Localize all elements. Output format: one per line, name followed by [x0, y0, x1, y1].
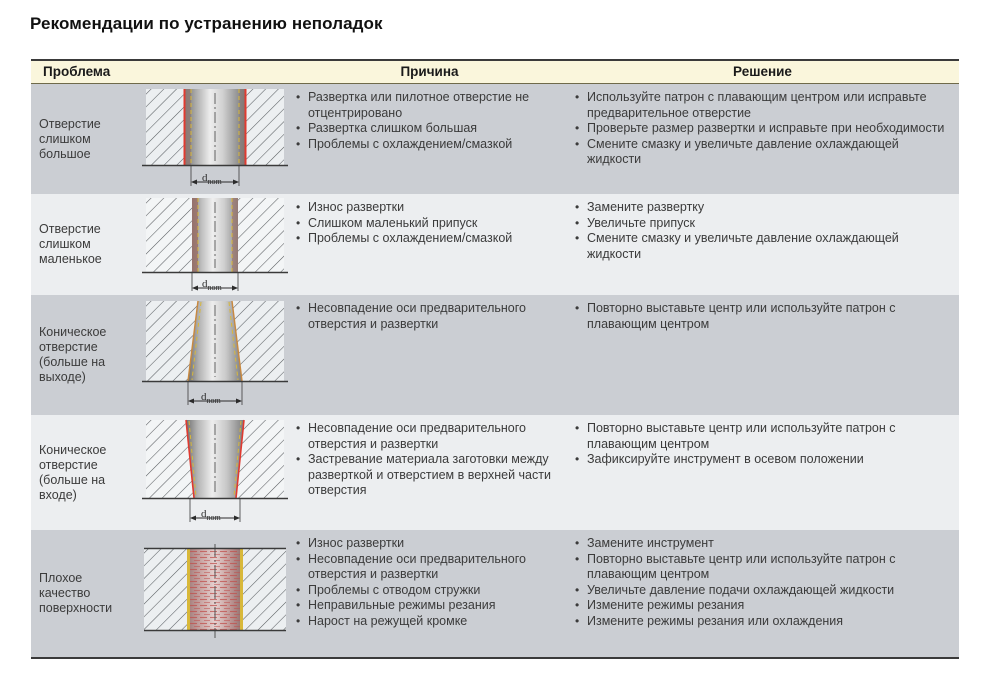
cell-cause: Несовпадение оси предварительного отверс…	[293, 295, 566, 415]
list-item: Измените режимы резания	[574, 598, 953, 614]
troubleshooting-table: Проблема Причина Решение Отверстие слишк…	[31, 59, 959, 659]
problem-label: Коническое отверстие (больше на входе)	[39, 443, 132, 503]
solution-list: Замените развертку Увеличьте припуск Сме…	[574, 200, 953, 262]
cell-solution: Повторно выставьте центр или используйте…	[566, 295, 959, 415]
list-item: Развертка слишком большая	[295, 121, 562, 137]
cell-cause: Несовпадение оси предварительного отверс…	[293, 415, 566, 530]
svg-text:dnom: dnom	[201, 508, 222, 522]
bore-rough-surface-diagram	[140, 544, 290, 644]
problem-label: Плохое качество поверхности	[39, 571, 132, 616]
list-item: Несовпадение оси предварительного отверс…	[295, 301, 562, 332]
list-item: Повторно выставьте центр или используйте…	[574, 301, 953, 332]
cause-list: Износ развертки Слишком маленький припус…	[295, 200, 512, 247]
cell-figure: dnom	[136, 415, 293, 530]
problem-label: Отверстие слишком маленькое	[39, 222, 132, 267]
cell-figure: dnom	[136, 295, 293, 415]
list-item: Зафиксируйте инструмент в осевом положен…	[574, 452, 953, 468]
page-title: Рекомендации по устранению неполадок	[30, 14, 383, 34]
table-header-row: Проблема Причина Решение	[31, 61, 959, 84]
svg-text:dnom: dnom	[202, 172, 223, 186]
list-item: Слишком маленький припуск	[295, 216, 512, 232]
table-row: Коническое отверстие (больше на входе)	[31, 415, 959, 530]
list-item: Замените инструмент	[574, 536, 953, 552]
bore-undersize-diagram: dnom	[140, 196, 290, 294]
list-item: Неправильные режимы резания	[295, 598, 562, 614]
cell-figure	[136, 530, 293, 657]
problem-label: Отверстие слишком большое	[39, 117, 132, 162]
cell-problem: Плохое качество поверхности	[31, 530, 136, 657]
list-item: Нарост на режущей кромке	[295, 614, 562, 630]
list-item: Проблемы с охлаждением/смазкой	[295, 231, 512, 247]
cause-list: Развертка или пилотное отверстие не отце…	[295, 90, 562, 152]
cell-figure: dnom	[136, 194, 293, 295]
cell-figure: dnom	[136, 84, 293, 194]
cause-list: Несовпадение оси предварительного отверс…	[295, 421, 562, 499]
list-item: Замените развертку	[574, 200, 953, 216]
cell-solution: Замените развертку Увеличьте припуск Сме…	[566, 194, 959, 295]
cause-list: Несовпадение оси предварительного отверс…	[295, 301, 562, 332]
list-item: Проверьте размер развертки и исправьте п…	[574, 121, 953, 137]
svg-text:dnom: dnom	[201, 391, 222, 405]
list-item: Повторно выставьте центр или используйте…	[574, 552, 953, 583]
cell-solution: Замените инструмент Повторно выставьте ц…	[566, 530, 959, 657]
list-item: Проблемы с отводом стружки	[295, 583, 562, 599]
list-item: Смените смазку и увеличьте давление охла…	[574, 137, 953, 168]
troubleshooting-page: Рекомендации по устранению неполадок Про…	[0, 0, 990, 697]
table-row: Отверстие слишком большое	[31, 84, 959, 194]
list-item: Несовпадение оси предварительного отверс…	[295, 421, 562, 452]
cause-list: Износ развертки Несовпадение оси предвар…	[295, 536, 562, 630]
cell-problem: Отверстие слишком большое	[31, 84, 136, 194]
cell-problem: Коническое отверстие (больше на входе)	[31, 415, 136, 530]
solution-list: Повторно выставьте центр или используйте…	[574, 421, 953, 468]
cell-cause: Износ развертки Слишком маленький припус…	[293, 194, 566, 295]
list-item: Проблемы с охлаждением/смазкой	[295, 137, 562, 153]
cell-problem: Отверстие слишком маленькое	[31, 194, 136, 295]
list-item: Износ развертки	[295, 536, 562, 552]
list-item: Несовпадение оси предварительного отверс…	[295, 552, 562, 583]
table-row: Отверстие слишком маленькое	[31, 194, 959, 295]
list-item: Увеличьте давление подачи охлаждающей жи…	[574, 583, 953, 599]
bore-taper-entry-diagram: dnom	[140, 418, 290, 528]
svg-text:dnom: dnom	[202, 278, 223, 292]
list-item: Измените режимы резания или охлаждения	[574, 614, 953, 630]
list-item: Износ развертки	[295, 200, 512, 216]
cell-solution: Повторно выставьте центр или используйте…	[566, 415, 959, 530]
problem-label: Коническое отверстие (больше на выходе)	[39, 325, 132, 385]
table-row: Плохое качество поверхности	[31, 530, 959, 657]
list-item: Смените смазку и увеличьте давление охла…	[574, 231, 953, 262]
solution-list: Используйте патрон с плавающим центром и…	[574, 90, 953, 168]
bore-oversize-diagram: dnom	[140, 87, 290, 191]
list-item: Развертка или пилотное отверстие не отце…	[295, 90, 562, 121]
solution-list: Повторно выставьте центр или используйте…	[574, 301, 953, 332]
list-item: Используйте патрон с плавающим центром и…	[574, 90, 953, 121]
column-header-problem: Проблема	[31, 61, 293, 83]
list-item: Повторно выставьте центр или используйте…	[574, 421, 953, 452]
solution-list: Замените инструмент Повторно выставьте ц…	[574, 536, 953, 630]
list-item: Застревание материала заготовки между ра…	[295, 452, 562, 499]
cell-problem: Коническое отверстие (больше на выходе)	[31, 295, 136, 415]
bore-taper-exit-diagram: dnom	[140, 299, 290, 411]
column-header-cause: Причина	[293, 61, 566, 83]
cell-cause: Развертка или пилотное отверстие не отце…	[293, 84, 566, 194]
list-item: Увеличьте припуск	[574, 216, 953, 232]
cell-cause: Износ развертки Несовпадение оси предвар…	[293, 530, 566, 657]
table-row: Коническое отверстие (больше на выходе)	[31, 295, 959, 415]
column-header-solution: Решение	[566, 61, 959, 83]
cell-solution: Используйте патрон с плавающим центром и…	[566, 84, 959, 194]
